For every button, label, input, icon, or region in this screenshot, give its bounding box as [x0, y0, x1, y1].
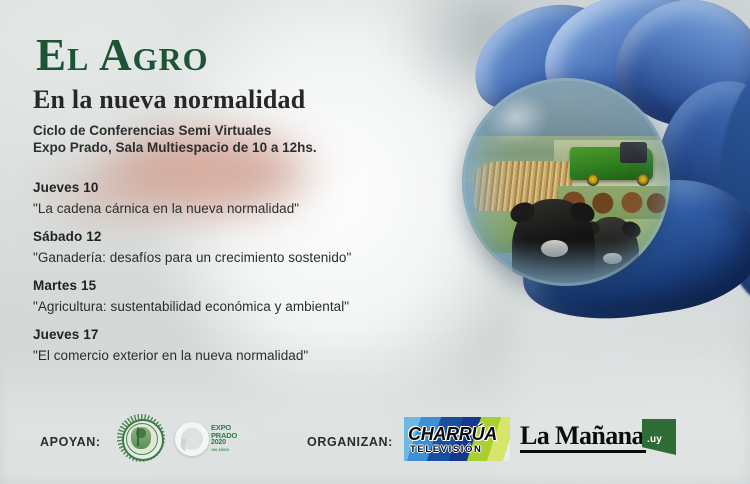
event-title: "La cadena cárnica en la nueva normalida…: [33, 201, 433, 216]
organizers-label: ORGANIZAN:: [307, 435, 393, 449]
event-title: "Agricultura: sustentabilidad económica …: [33, 299, 433, 314]
expo-prado-year: 2020: [211, 439, 237, 447]
expo-prado-line-2: PRADO: [211, 432, 237, 440]
event-date: Jueves 10: [33, 180, 433, 195]
event-item: Martes 15 "Agricultura: sustentabilidad …: [33, 278, 433, 314]
la-manana-wordmark: La Mañana: [520, 421, 644, 451]
event-item: Jueves 10 "La cadena cárnica en la nueva…: [33, 180, 433, 216]
expo-prado-tagline: 150 AÑOS: [211, 447, 237, 455]
la-manana-logo[interactable]: La Mañana .uy: [520, 419, 675, 459]
expo-prado-logo[interactable]: EXPO PRADO 2020 150 AÑOS: [175, 419, 243, 459]
charrua-television-logo[interactable]: CHARRÚA TELEVISIÓN: [404, 417, 510, 461]
intro-line-1: Ciclo de Conferencias Semi Virtuales: [33, 122, 317, 139]
aru-emblem-icon: [131, 427, 151, 449]
event-date: Sábado 12: [33, 229, 433, 244]
asociacion-rural-logo[interactable]: [117, 414, 165, 462]
event-item: Jueves 17 "El comercio exterior en la nu…: [33, 327, 433, 363]
charrua-wordmark: CHARRÚA: [408, 424, 508, 445]
poster-subtitle: En la nueva normalidad: [33, 85, 305, 114]
expo-prado-wordmark: EXPO PRADO 2020 150 AÑOS: [211, 424, 237, 454]
aru-emblem-detail: [137, 428, 139, 446]
poster-title: El Agro: [36, 33, 209, 78]
intro-line-2: Expo Prado, Sala Multiespacio de 10 a 12…: [33, 139, 317, 156]
charrua-subtitle: TELEVISIÓN: [410, 444, 506, 455]
event-date: Jueves 17: [33, 327, 433, 342]
poster-intro: Ciclo de Conferencias Semi Virtuales Exp…: [33, 122, 317, 156]
event-title: "El comercio exterior en la nueva normal…: [33, 348, 433, 363]
events-list: Jueves 10 "La cadena cárnica en la nueva…: [33, 180, 433, 376]
event-title: "Ganadería: desafíos para un crecimiento…: [33, 250, 433, 265]
event-item: Sábado 12 "Ganadería: desafíos para un c…: [33, 229, 433, 265]
event-date: Martes 15: [33, 278, 433, 293]
poster: El Agro En la nueva normalidad Ciclo de …: [0, 0, 750, 484]
la-manana-underline: [520, 450, 646, 453]
la-manana-domain: .uy: [647, 434, 662, 445]
support-label: APOYAN:: [40, 435, 101, 449]
